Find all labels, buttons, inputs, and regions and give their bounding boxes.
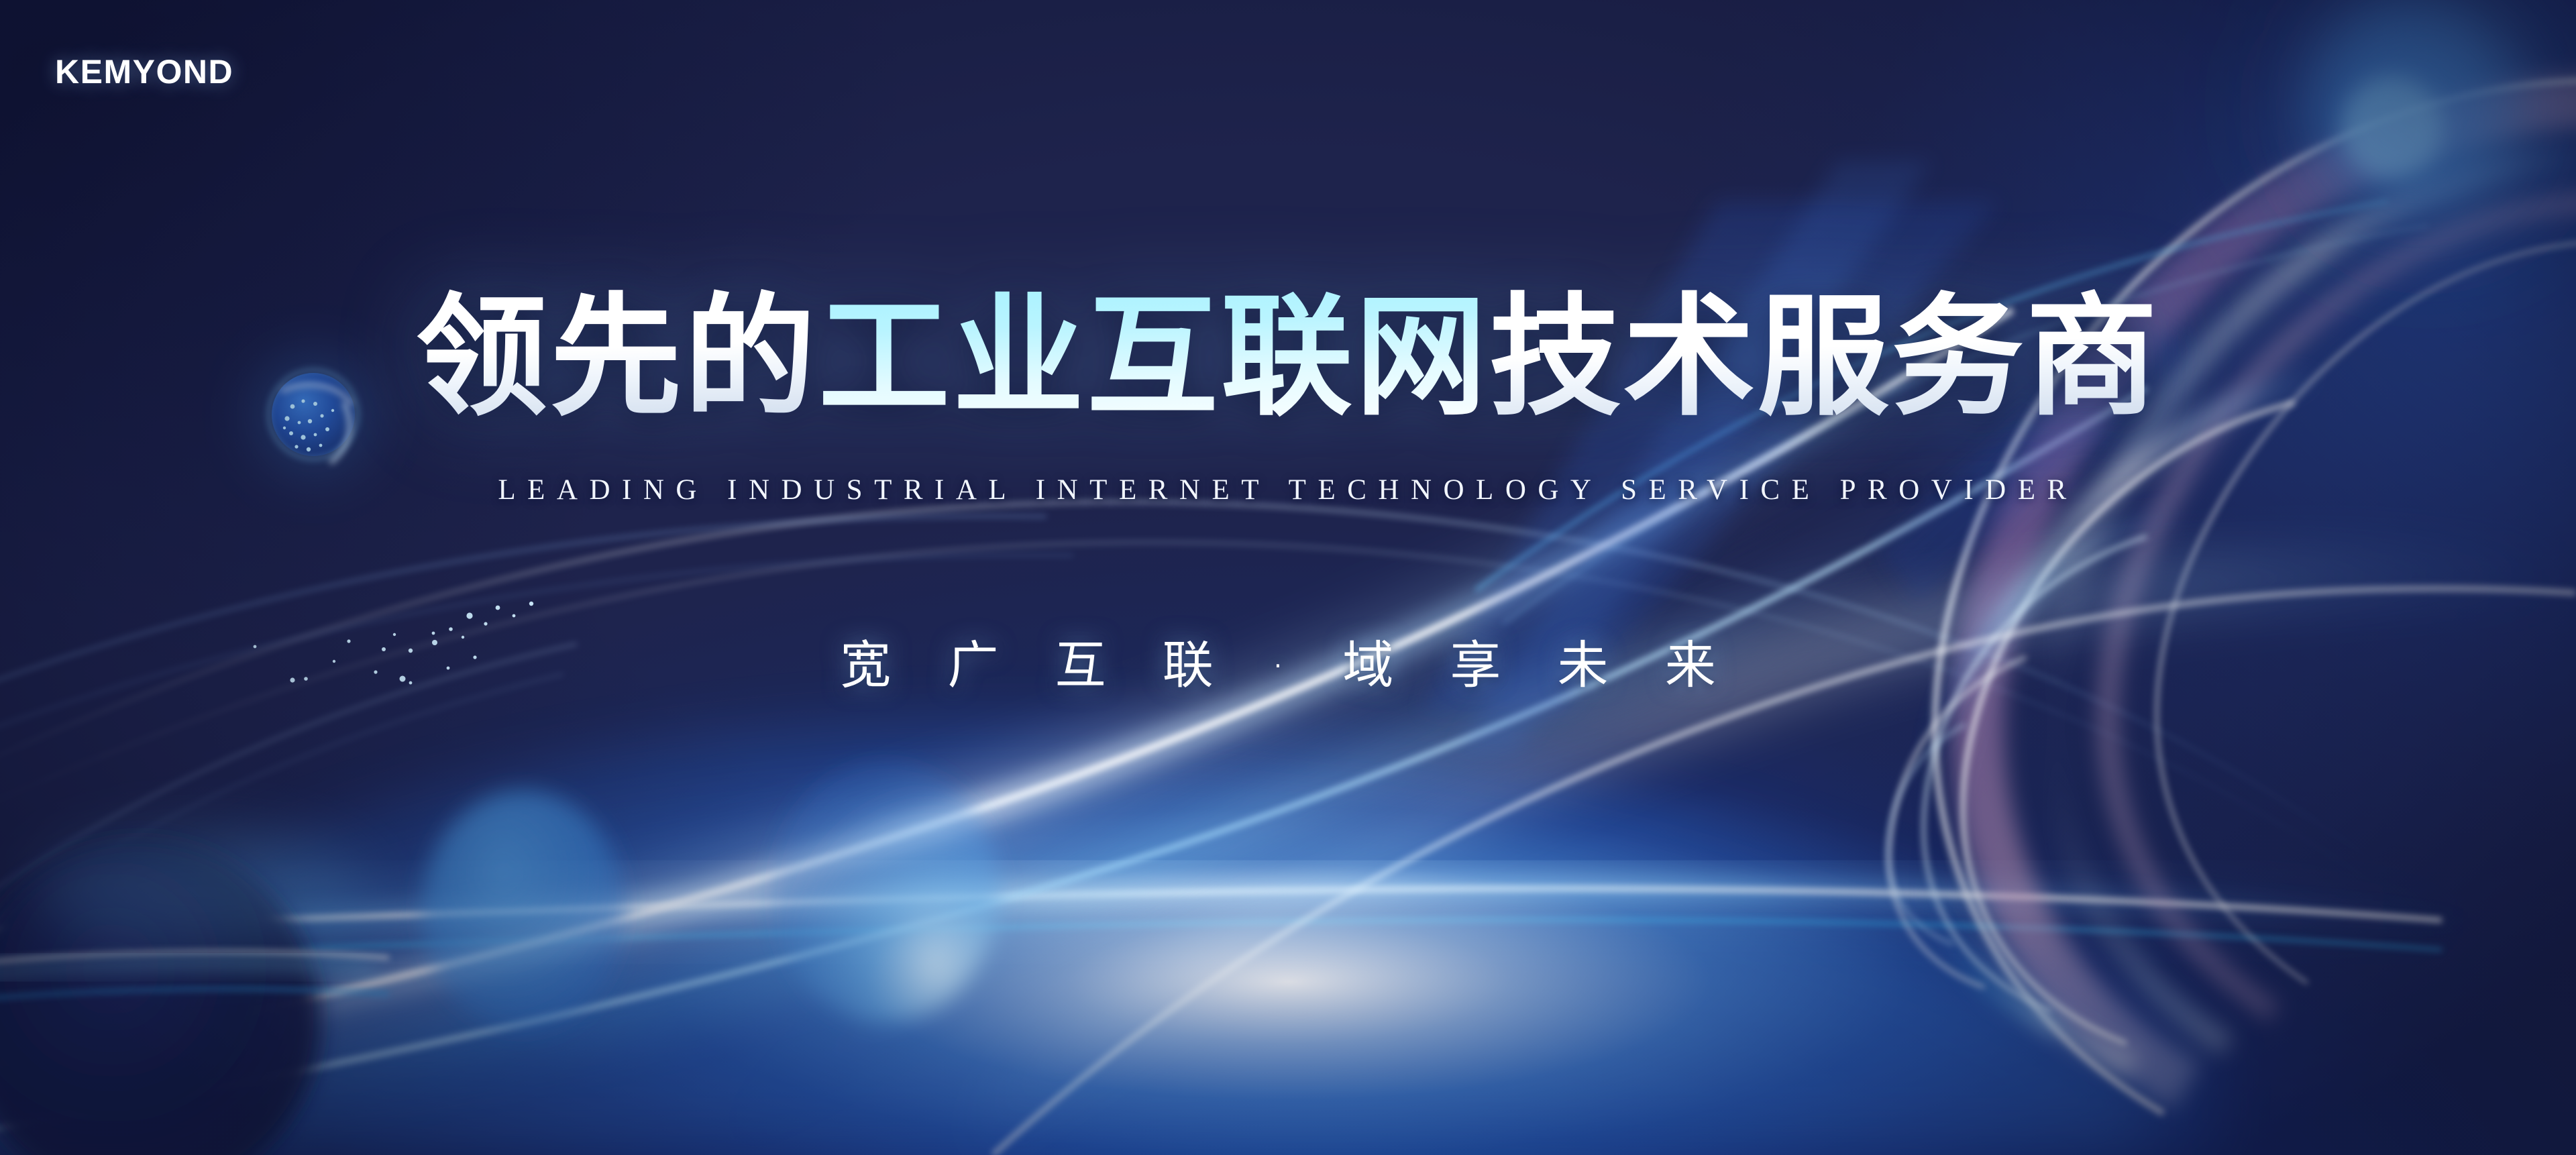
headline-container: 领先的工业互联网技术服务商: [0, 284, 2576, 432]
headline-segment-1: 领先的: [416, 281, 818, 434]
brand-logo[interactable]: KEMYOND: [55, 52, 233, 91]
headline-segment-2: 工业互联网: [818, 281, 1489, 434]
brand-tagline: 宽 广 互 联 · 域 享 未 来: [0, 624, 2576, 698]
background-vignette: [0, 0, 2576, 1155]
headline-segment-3: 技术服务商: [1489, 281, 2160, 434]
banner-canvas: KEMYOND 领先的工业互联网技术服务商 LEADING INDUSTRIAL…: [0, 0, 2576, 1155]
page-title: 领先的工业互联网技术服务商: [416, 284, 2160, 432]
headline-subtitle: LEADING INDUSTRIAL INTERNET TECHNOLOGY S…: [0, 474, 2576, 506]
